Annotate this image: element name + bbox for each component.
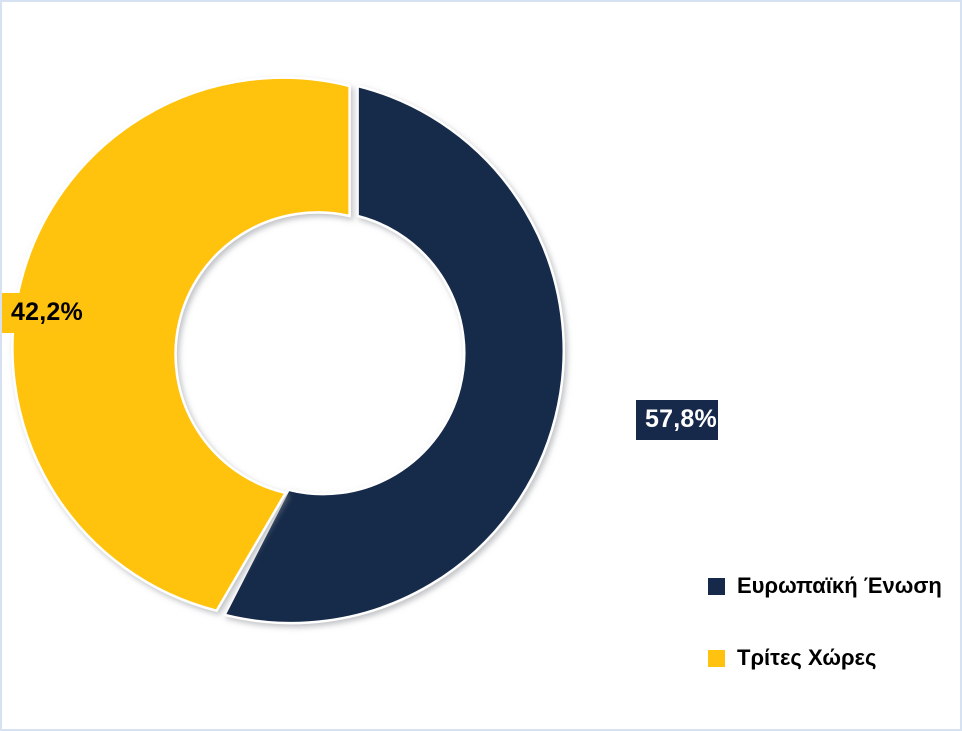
- chart-frame: 42,2% 57,8% Ευρωπαϊκή Ένωση Τρίτες Χώρες: [0, 0, 962, 731]
- chart-legend: Ευρωπαϊκή Ένωση Τρίτες Χώρες: [708, 550, 948, 694]
- data-label-third-countries: 42,2%: [2, 293, 84, 333]
- legend-label-eu: Ευρωπαϊκή Ένωση: [737, 573, 942, 599]
- data-label-eu: 57,8%: [636, 400, 718, 440]
- legend-swatch-eu-icon: [708, 578, 725, 595]
- legend-item-third-countries[interactable]: Τρίτες Χώρες: [708, 622, 948, 694]
- legend-label-third-countries: Τρίτες Χώρες: [737, 645, 876, 671]
- legend-swatch-third-countries-icon: [708, 650, 725, 667]
- legend-item-eu[interactable]: Ευρωπαϊκή Ένωση: [708, 550, 948, 622]
